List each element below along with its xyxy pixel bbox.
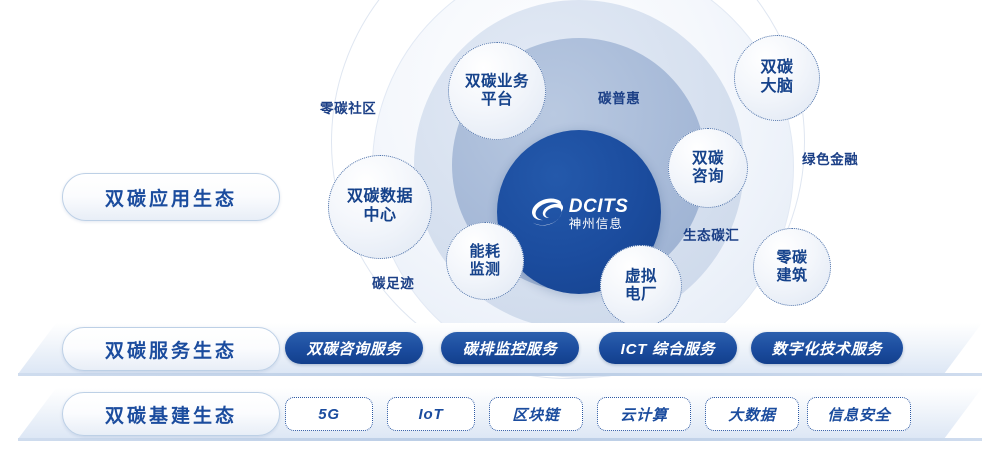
label-carbon-footprint: 碳足迹 (372, 272, 414, 292)
ecosystem-diagram: DCITS 神州信息 双碳数据 中心 双碳业务 平台 双碳 大脑 (0, 0, 1000, 476)
bubble-line: 建筑 (776, 267, 807, 285)
infra-chip-blockchain[interactable]: 区块链 (489, 397, 583, 431)
infra-chip-5g[interactable]: 5G (285, 397, 373, 431)
infra-chip-iot[interactable]: IoT (387, 397, 475, 431)
service-pill-emission-monitoring[interactable]: 碳排监控服务 (441, 332, 579, 364)
bubble-line: 平台 (465, 91, 529, 109)
tier-label-infrastructure[interactable]: 双碳基建生态 (62, 392, 280, 436)
bubble-line: 双碳业务 (465, 73, 529, 91)
bubble-data-center[interactable]: 双碳数据 中心 (328, 155, 432, 259)
service-pill-ict-integrated[interactable]: ICT 综合服务 (599, 332, 737, 364)
bubble-virtual-power-plant[interactable]: 虚拟 电厂 (600, 245, 682, 327)
bubble-business-platform[interactable]: 双碳业务 平台 (448, 42, 546, 140)
service-pill-consulting[interactable]: 双碳咨询服务 (285, 332, 423, 364)
bubble-carbon-consulting[interactable]: 双碳 咨询 (668, 128, 748, 208)
bubble-energy-monitoring[interactable]: 能耗 监测 (446, 222, 524, 300)
infra-chip-cloud-computing[interactable]: 云计算 (597, 397, 691, 431)
label-carbon-inclusion: 碳普惠 (598, 87, 640, 107)
logo-text-en: DCITS (569, 197, 629, 216)
infra-chip-big-data[interactable]: 大数据 (705, 397, 799, 431)
bubble-line: 大脑 (760, 78, 793, 97)
label-green-finance: 绿色金融 (802, 148, 858, 168)
logo-text-cn: 神州信息 (569, 218, 629, 231)
bubble-line: 虚拟 (625, 268, 657, 286)
bubble-line: 零碳 (776, 249, 807, 267)
bubble-line: 咨询 (692, 168, 724, 186)
bubble-zero-carbon-building[interactable]: 零碳 建筑 (753, 228, 831, 306)
bubble-line: 能耗 (469, 243, 500, 261)
service-pill-digital-technology[interactable]: 数字化技术服务 (751, 332, 903, 364)
bubble-line: 双碳 (692, 150, 724, 168)
label-zero-carbon-community: 零碳社区 (320, 97, 376, 117)
infrastructure-tier-ribbon-edge (18, 438, 982, 441)
bubble-line: 中心 (347, 207, 413, 226)
tier-label-application[interactable]: 双碳应用生态 (62, 173, 280, 221)
tier-label-service[interactable]: 双碳服务生态 (62, 327, 280, 371)
bubble-line: 双碳数据 (347, 188, 413, 207)
label-eco-carbon-sink: 生态碳汇 (683, 224, 739, 244)
bubble-line: 双碳 (760, 59, 793, 78)
swoosh-icon (530, 197, 564, 232)
service-tier-ribbon-edge (18, 373, 982, 376)
bubble-line: 电厂 (625, 286, 657, 304)
bubble-line: 监测 (469, 261, 500, 279)
infra-chip-information-security[interactable]: 信息安全 (807, 397, 911, 431)
bubble-carbon-brain[interactable]: 双碳 大脑 (734, 35, 820, 121)
application-ecosystem-cluster: DCITS 神州信息 双碳数据 中心 双碳业务 平台 双碳 大脑 (0, 0, 1000, 320)
